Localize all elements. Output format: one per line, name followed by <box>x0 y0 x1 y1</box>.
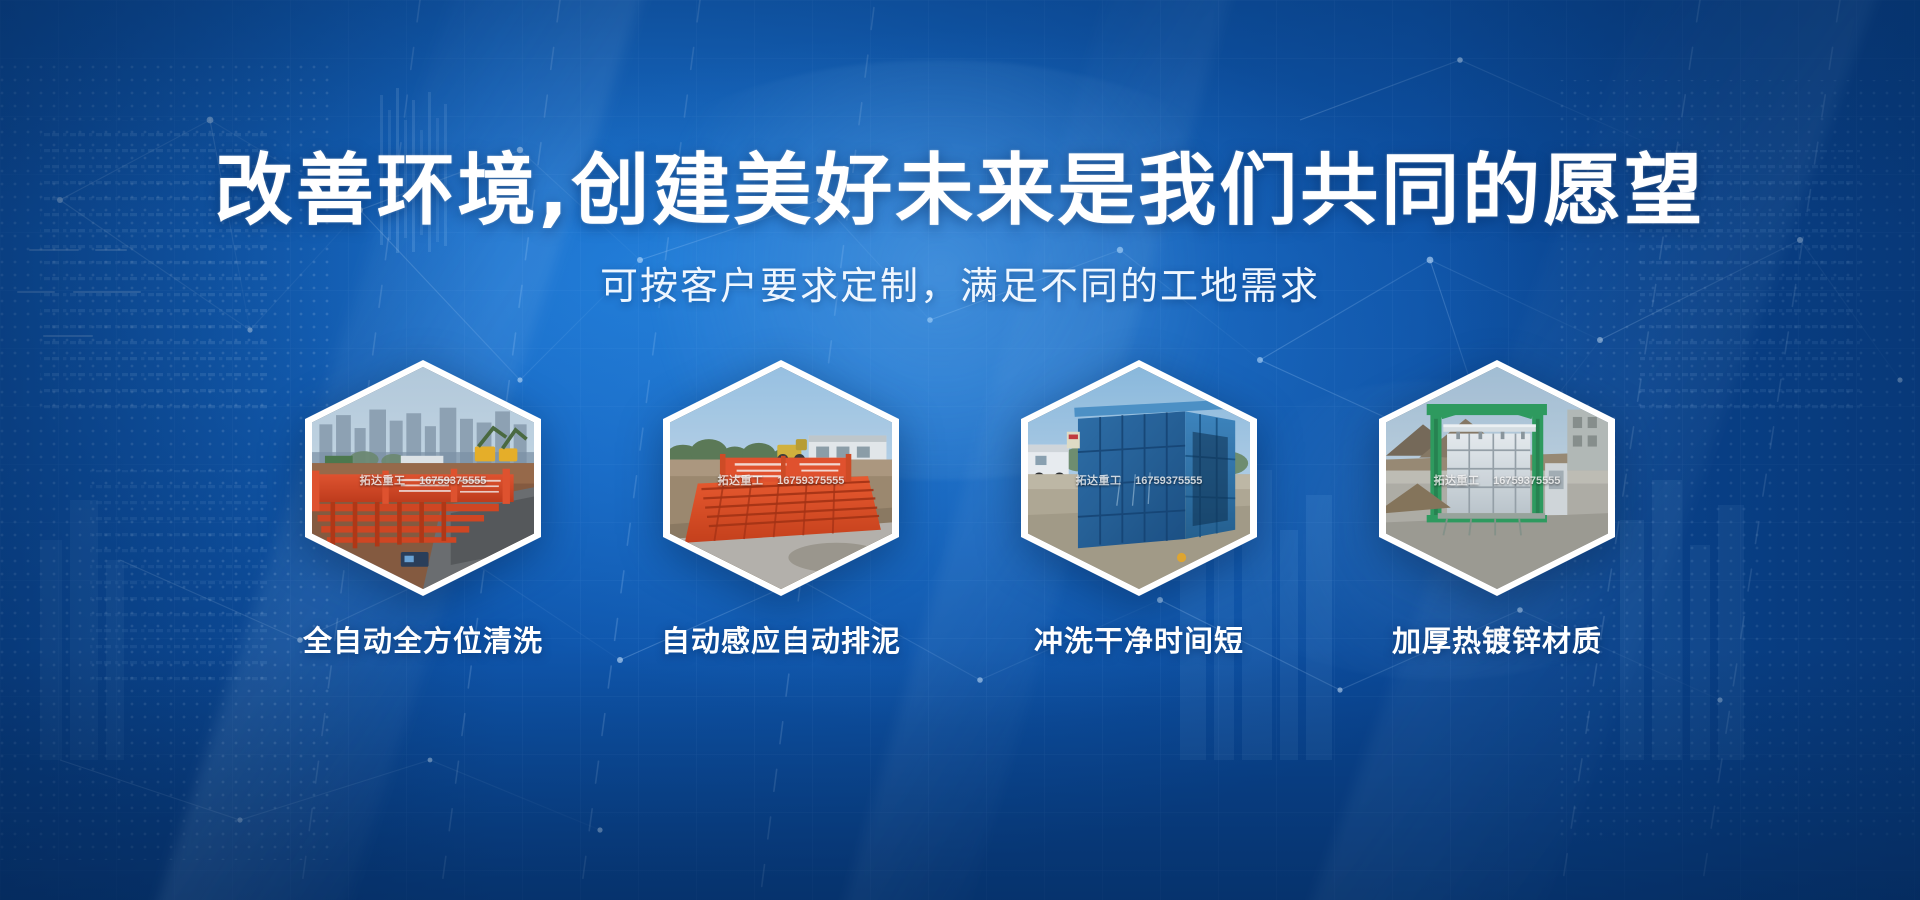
feature-caption-2: 自动感应自动排泥 <box>661 618 901 660</box>
feature-card-3[interactable]: 拓达重工 16759375555 冲洗干净时间短 <box>1021 360 1257 660</box>
feature-card-list: 拓达重工 16759375555 全自动全方位清洗 <box>0 360 1920 660</box>
banner-content: 改善环境,创建美好未来是我们共同的愿望 可按客户要求定制，满足不同的工地需求 <box>0 0 1920 900</box>
hex-photo-frame-4[interactable]: 拓达重工 16759375555 <box>1379 360 1615 596</box>
hex-photo-frame-2[interactable]: 拓达重工 16759375555 <box>663 360 899 596</box>
hex-photo-frame-1[interactable]: 拓达重工 16759375555 <box>305 360 541 596</box>
promo-banner: 改善环境,创建美好未来是我们共同的愿望 可按客户要求定制，满足不同的工地需求 <box>0 0 1920 900</box>
feature-card-2[interactable]: 拓达重工 16759375555 自动感应自动排泥 <box>663 360 899 660</box>
feature-caption-3: 冲洗干净时间短 <box>1034 618 1244 660</box>
page-subtitle: 可按客户要求定制，满足不同的工地需求 <box>0 268 1920 306</box>
feature-card-1[interactable]: 拓达重工 16759375555 全自动全方位清洗 <box>305 360 541 660</box>
feature-caption-1: 全自动全方位清洗 <box>303 618 543 660</box>
page-title: 改善环境,创建美好未来是我们共同的愿望 <box>0 152 1920 230</box>
feature-card-4[interactable]: 拓达重工 16759375555 加厚热镀锌材质 <box>1379 360 1615 660</box>
feature-caption-4: 加厚热镀锌材质 <box>1392 618 1602 660</box>
hex-photo-frame-3[interactable]: 拓达重工 16759375555 <box>1021 360 1257 596</box>
